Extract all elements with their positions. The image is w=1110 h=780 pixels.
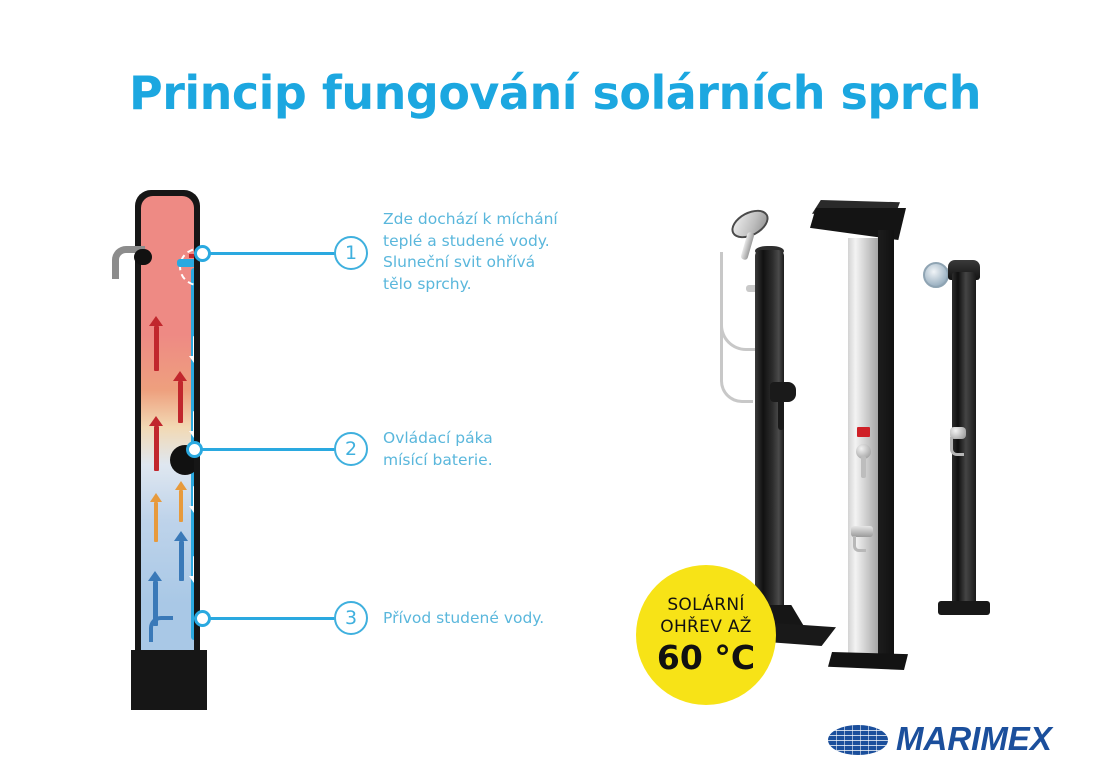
badge-line-2: OHŘEV AŽ [660, 616, 751, 638]
spout-joint [134, 249, 152, 265]
foot-valve-handle [853, 536, 866, 552]
solar-heating-badge: SOLÁRNÍ OHŘEV AŽ 60 °C [636, 565, 776, 705]
page-title: Princip fungování solárních sprch [0, 66, 1110, 120]
brand-logo: MARIMEX [828, 720, 1078, 762]
infographic-canvas: Princip fungování solárních sprch [0, 0, 1110, 780]
mixer-lever-stem [778, 396, 784, 430]
badge-temperature: 60 °C [657, 640, 755, 676]
cold-return-curve [149, 616, 173, 642]
callout-number-badge: 3 [334, 601, 368, 635]
callout-leader-line [200, 448, 336, 451]
outlet-blue-pipe [177, 259, 194, 267]
shower-pole [755, 250, 784, 635]
base-plate [828, 652, 908, 670]
badge-line-1: SOLÁRNÍ [667, 594, 744, 616]
globe-icon [828, 725, 888, 755]
callout-number-badge: 1 [334, 236, 368, 270]
shower-tube-interior [141, 196, 194, 659]
solar-shower-diagram [110, 180, 350, 725]
callout-leader-line [208, 617, 336, 620]
callout-text: Ovládací páka mísící baterie. [383, 428, 603, 471]
shower-hose [720, 310, 753, 403]
mixer-valve-handle [950, 437, 964, 456]
column-dark-side [878, 230, 894, 656]
callout-number-badge: 2 [334, 432, 368, 466]
callout-text: Přívod studené vody. [383, 608, 623, 630]
base-plate [938, 601, 990, 615]
brand-name: MARIMEX [896, 720, 1052, 758]
shower-base-block [131, 650, 207, 710]
mixer-knob-stem [861, 456, 866, 478]
callout-leader-line [208, 252, 336, 255]
round-shower-head-icon [923, 262, 949, 288]
red-label-icon [857, 427, 870, 437]
callout-text: Zde dochází k míchání teplé a studené vo… [383, 209, 603, 295]
